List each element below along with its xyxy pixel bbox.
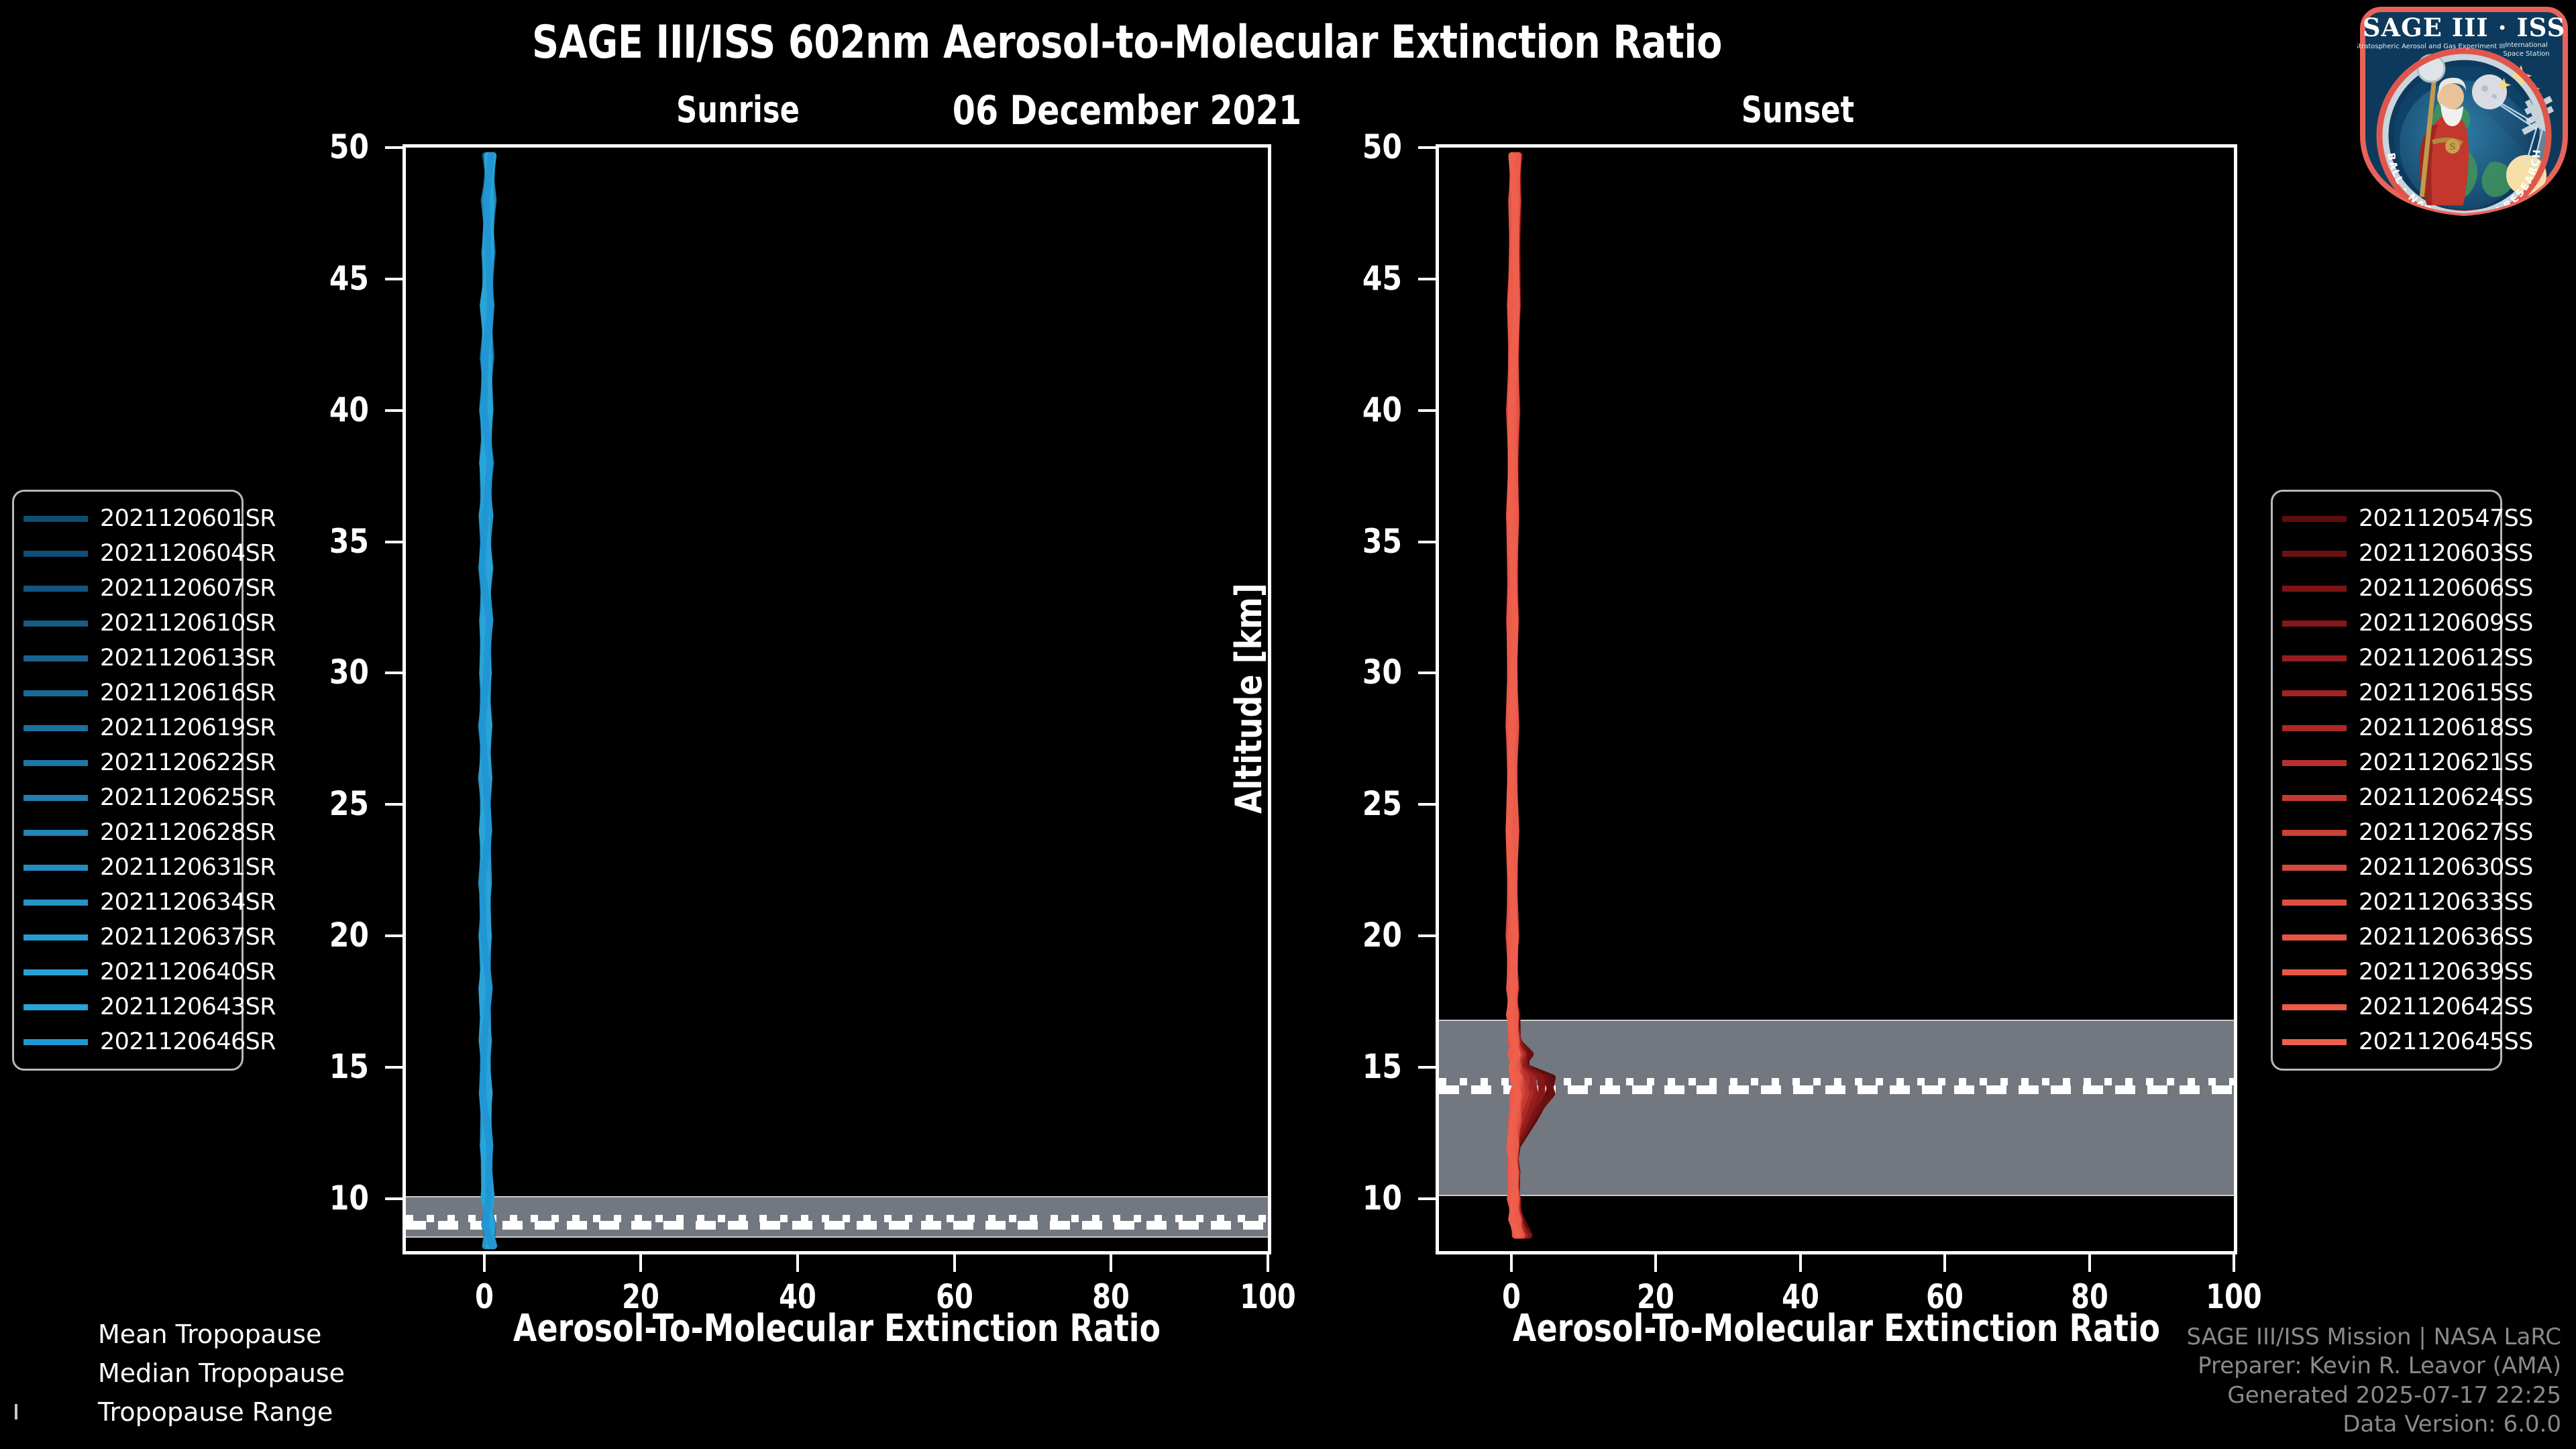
legend-item-label: 2021120625SR	[100, 784, 276, 811]
legend-item-label: 2021120619SR	[100, 714, 276, 741]
svg-text:SAGE III · ISS: SAGE III · ISS	[2363, 13, 2566, 42]
y-tick-label: 10	[1299, 1179, 1402, 1218]
legend-item[interactable]: 2021120639SS	[2282, 955, 2489, 989]
dotted-line-icon	[15, 1366, 85, 1380]
legend-color-swatch	[23, 516, 88, 522]
plot-sunset	[1436, 144, 2237, 1254]
x-tick	[1654, 1254, 1657, 1272]
legend-color-swatch	[2282, 900, 2347, 906]
legend-item[interactable]: 2021120645SS	[2282, 1024, 2489, 1059]
legend-color-swatch	[23, 586, 88, 592]
legend-color-swatch	[23, 621, 88, 627]
x-tick-label: 0	[431, 1277, 538, 1316]
legend-item[interactable]: 2021120627SS	[2282, 815, 2489, 850]
legend-item-label: 2021120630SS	[2359, 854, 2533, 881]
legend-color-swatch	[23, 1004, 88, 1010]
legend-item[interactable]: 2021120613SR	[23, 641, 231, 676]
legend-color-swatch	[23, 900, 88, 906]
legend-color-swatch	[2282, 795, 2347, 801]
legend-color-swatch	[2282, 830, 2347, 836]
legend-item-label: 2021120609SS	[2359, 610, 2533, 637]
tropopause-legend-label: Mean Tropopause	[98, 1320, 321, 1349]
y-tick	[385, 146, 402, 149]
y-tick	[1418, 541, 1436, 543]
legend-color-swatch	[23, 969, 88, 975]
x-tick-label: 40	[1747, 1277, 1854, 1316]
footer-line: Data Version: 6.0.0	[2186, 1410, 2561, 1440]
legend-color-swatch	[2282, 969, 2347, 975]
legend-color-swatch	[23, 830, 88, 836]
x-tick	[483, 1254, 486, 1272]
legend-color-swatch	[23, 865, 88, 871]
legend-item[interactable]: 2021120642SS	[2282, 989, 2489, 1024]
x-tick-label: 100	[2180, 1277, 2288, 1316]
y-tick-label: 25	[266, 784, 369, 823]
x-tick-label: 80	[1057, 1277, 1165, 1316]
legend-sunrise[interactable]: 2021120601SR2021120604SR2021120607SR2021…	[12, 490, 244, 1071]
legend-item[interactable]: 2021120640SR	[23, 955, 231, 989]
legend-item-label: 2021120547SS	[2359, 505, 2533, 532]
y-tick	[1418, 934, 1436, 937]
legend-item-label: 2021120612SS	[2359, 645, 2533, 672]
y-tick	[385, 541, 402, 543]
svg-text:Space Station: Space Station	[2503, 50, 2549, 58]
legend-color-swatch	[23, 795, 88, 801]
legend-item[interactable]: 2021120630SS	[2282, 850, 2489, 885]
legend-item-label: 2021120615SS	[2359, 680, 2533, 706]
data-curves-layer	[1439, 148, 2234, 1251]
legend-item[interactable]: 2021120612SS	[2282, 641, 2489, 676]
y-tick-label: 30	[1299, 653, 1402, 692]
x-tick-label: 20	[1602, 1277, 1709, 1316]
legend-item[interactable]: 2021120633SS	[2282, 885, 2489, 920]
legend-glyph	[15, 1404, 17, 1419]
y-tick	[385, 1066, 402, 1069]
y-tick-label: 35	[266, 522, 369, 561]
legend-item[interactable]: 2021120637SR	[23, 920, 231, 955]
legend-item-label: 2021120613SR	[100, 645, 276, 672]
legend-item[interactable]: 2021120619SR	[23, 710, 231, 745]
legend-item[interactable]: 2021120604SR	[23, 536, 231, 571]
y-tick-label: 20	[1299, 916, 1402, 955]
legend-item-label: 2021120624SS	[2359, 784, 2533, 811]
x-tick	[639, 1254, 642, 1272]
x-tick	[796, 1254, 799, 1272]
legend-item-label: 2021120601SR	[100, 505, 276, 532]
legend-color-swatch	[2282, 690, 2347, 696]
legend-color-swatch	[2282, 725, 2347, 731]
legend-item[interactable]: 2021120606SS	[2282, 571, 2489, 606]
legend-item-label: 2021120621SS	[2359, 749, 2533, 776]
legend-color-swatch	[2282, 760, 2347, 766]
legend-item[interactable]: 2021120624SS	[2282, 780, 2489, 815]
x-tick	[2233, 1254, 2235, 1272]
legend-item-label: 2021120642SS	[2359, 994, 2533, 1020]
legend-item[interactable]: 2021120603SS	[2282, 536, 2489, 571]
y-tick-label: 35	[1299, 522, 1402, 561]
legend-color-swatch	[23, 760, 88, 766]
tropopause-legend-item: Mean Tropopause	[15, 1315, 364, 1354]
x-tick	[1943, 1254, 1946, 1272]
x-tick-label: 20	[587, 1277, 694, 1316]
legend-item-label: 2021120640SR	[100, 959, 276, 985]
legend-item-label: 2021120631SR	[100, 854, 276, 881]
y-tick-label: 50	[1299, 127, 1402, 166]
legend-color-swatch	[23, 690, 88, 696]
legend-item-label: 2021120618SS	[2359, 714, 2533, 741]
legend-item-label: 2021120636SS	[2359, 924, 2533, 951]
panel-label-sunrise: Sunrise	[631, 89, 845, 131]
legend-item[interactable]: 2021120618SS	[2282, 710, 2489, 745]
y-tick	[385, 1197, 402, 1200]
legend-item-label: 2021120633SS	[2359, 889, 2533, 916]
legend-item-label: 2021120610SR	[100, 610, 276, 637]
svg-text:International: International	[2505, 42, 2548, 49]
footer-line: Preparer: Kevin R. Leavor (AMA)	[2186, 1352, 2561, 1381]
panel-label-sunset: Sunset	[1690, 89, 1905, 131]
x-tick	[2088, 1254, 2091, 1272]
y-tick	[385, 803, 402, 806]
svg-text:Stratospheric Aerosol and Gas: Stratospheric Aerosol and Gas Experiment…	[2357, 43, 2505, 50]
y-tick	[385, 278, 402, 280]
x-tick-label: 0	[1458, 1277, 1565, 1316]
x-tick	[1799, 1254, 1802, 1272]
legend-color-swatch	[23, 655, 88, 661]
legend-item[interactable]: 2021120636SS	[2282, 920, 2489, 955]
y-tick	[1418, 1197, 1436, 1200]
legend-color-swatch	[2282, 865, 2347, 871]
legend-color-swatch	[2282, 551, 2347, 557]
y-tick-label: 45	[1299, 259, 1402, 298]
legend-item[interactable]: 2021120616SR	[23, 676, 231, 710]
footer-credits: SAGE III/ISS Mission | NASA LaRCPreparer…	[2186, 1323, 2561, 1440]
y-tick-label: 15	[266, 1047, 369, 1086]
x-tick-label: 40	[744, 1277, 851, 1316]
legend-item-label: 2021120607SR	[100, 575, 276, 602]
legend-color-swatch	[2282, 516, 2347, 522]
sage3-iss-mission-patch-logo: S BALL · NASA LANGLEY RESEARCH CENTER · …	[2357, 4, 2571, 217]
svg-text:S: S	[2450, 142, 2456, 152]
legend-color-swatch	[23, 1039, 88, 1045]
y-tick-label: 45	[266, 259, 369, 298]
y-tick-label: 40	[266, 390, 369, 429]
legend-item[interactable]: 2021120607SR	[23, 571, 231, 606]
legend-item-label: 2021120634SR	[100, 889, 276, 916]
page-title: SAGE III/ISS 602nm Aerosol-to-Molecular …	[203, 16, 2051, 69]
legend-color-swatch	[2282, 1039, 2347, 1045]
y-tick-label: 15	[1299, 1047, 1402, 1086]
legend-item[interactable]: 2021120631SR	[23, 850, 231, 885]
y-tick	[1418, 1066, 1436, 1069]
x-tick	[953, 1254, 956, 1272]
y-tick	[1418, 409, 1436, 412]
y-tick-label: 20	[266, 916, 369, 955]
legend-color-swatch	[23, 934, 88, 941]
x-tick-label: 80	[2036, 1277, 2143, 1316]
y-tick	[385, 409, 402, 412]
legend-item-label: 2021120604SR	[100, 540, 276, 567]
tropopause-legend: Mean TropopauseMedian TropopauseTropopau…	[15, 1315, 364, 1432]
legend-item-label: 2021120628SR	[100, 819, 276, 846]
data-curves-layer	[406, 148, 1268, 1251]
legend-item-label: 2021120622SR	[100, 749, 276, 776]
y-tick-label: 25	[1299, 784, 1402, 823]
legend-item-label: 2021120606SS	[2359, 575, 2533, 602]
y-tick	[1418, 146, 1436, 149]
legend-color-swatch	[2282, 1004, 2347, 1010]
y-tick	[385, 672, 402, 674]
legend-item[interactable]: 2021120625SR	[23, 780, 231, 815]
footer-line: SAGE III/ISS Mission | NASA LaRC	[2186, 1323, 2561, 1352]
dashed-line-icon	[15, 1328, 85, 1341]
legend-item[interactable]: 2021120615SS	[2282, 676, 2489, 710]
legend-sunset[interactable]: 2021120547SS2021120603SS2021120606SS2021…	[2271, 490, 2502, 1071]
y-tick	[1418, 278, 1436, 280]
footer-line: Generated 2025-07-17 22:25	[2186, 1381, 2561, 1411]
legend-color-swatch	[23, 551, 88, 557]
range-band-icon	[15, 1405, 85, 1419]
legend-item[interactable]: 2021120646SR	[23, 1024, 231, 1059]
legend-color-swatch	[2282, 621, 2347, 627]
legend-item-label: 2021120639SS	[2359, 959, 2533, 985]
legend-color-swatch	[2282, 934, 2347, 941]
chart-page: SAGE III/ISS 602nm Aerosol-to-Molecular …	[0, 0, 2576, 1449]
legend-item-label: 2021120637SR	[100, 924, 276, 951]
legend-item-label: 2021120603SS	[2359, 540, 2533, 567]
legend-item-label: 2021120645SS	[2359, 1028, 2533, 1055]
y-tick-label: 30	[266, 653, 369, 692]
legend-item[interactable]: 2021120622SR	[23, 745, 231, 780]
y-tick-label: 40	[1299, 390, 1402, 429]
y-tick	[385, 934, 402, 937]
plot-sunrise	[402, 144, 1271, 1254]
y-axis-label-right: Altitude [km]	[1228, 583, 1270, 814]
x-tick	[1110, 1254, 1112, 1272]
legend-item[interactable]: 2021120643SR	[23, 989, 231, 1024]
legend-item[interactable]: 2021120628SR	[23, 815, 231, 850]
y-tick	[1418, 803, 1436, 806]
y-tick-label: 50	[266, 127, 369, 166]
legend-item-label: 2021120616SR	[100, 680, 276, 706]
legend-item[interactable]: 2021120547SS	[2282, 501, 2489, 536]
legend-color-swatch	[2282, 586, 2347, 592]
tropopause-legend-label: Median Tropopause	[98, 1358, 345, 1388]
x-tick	[1267, 1254, 1269, 1272]
legend-item-label: 2021120643SR	[100, 994, 276, 1020]
legend-item-label: 2021120646SR	[100, 1028, 276, 1055]
legend-item[interactable]: 2021120609SS	[2282, 606, 2489, 641]
y-tick-label: 10	[266, 1179, 369, 1218]
legend-color-swatch	[23, 725, 88, 731]
legend-item[interactable]: 2021120601SR	[23, 501, 231, 536]
x-tick-label: 100	[1214, 1277, 1322, 1316]
x-tick-label: 60	[1891, 1277, 1998, 1316]
legend-item[interactable]: 2021120621SS	[2282, 745, 2489, 780]
legend-item[interactable]: 2021120610SR	[23, 606, 231, 641]
legend-color-swatch	[2282, 655, 2347, 661]
legend-item-label: 2021120627SS	[2359, 819, 2533, 846]
tropopause-legend-item: Tropopause Range	[15, 1393, 364, 1432]
tropopause-legend-label: Tropopause Range	[98, 1397, 333, 1427]
legend-item[interactable]: 2021120634SR	[23, 885, 231, 920]
tropopause-legend-item: Median Tropopause	[15, 1354, 364, 1393]
y-tick	[1418, 672, 1436, 674]
x-tick-label: 60	[901, 1277, 1008, 1316]
x-tick	[1510, 1254, 1513, 1272]
